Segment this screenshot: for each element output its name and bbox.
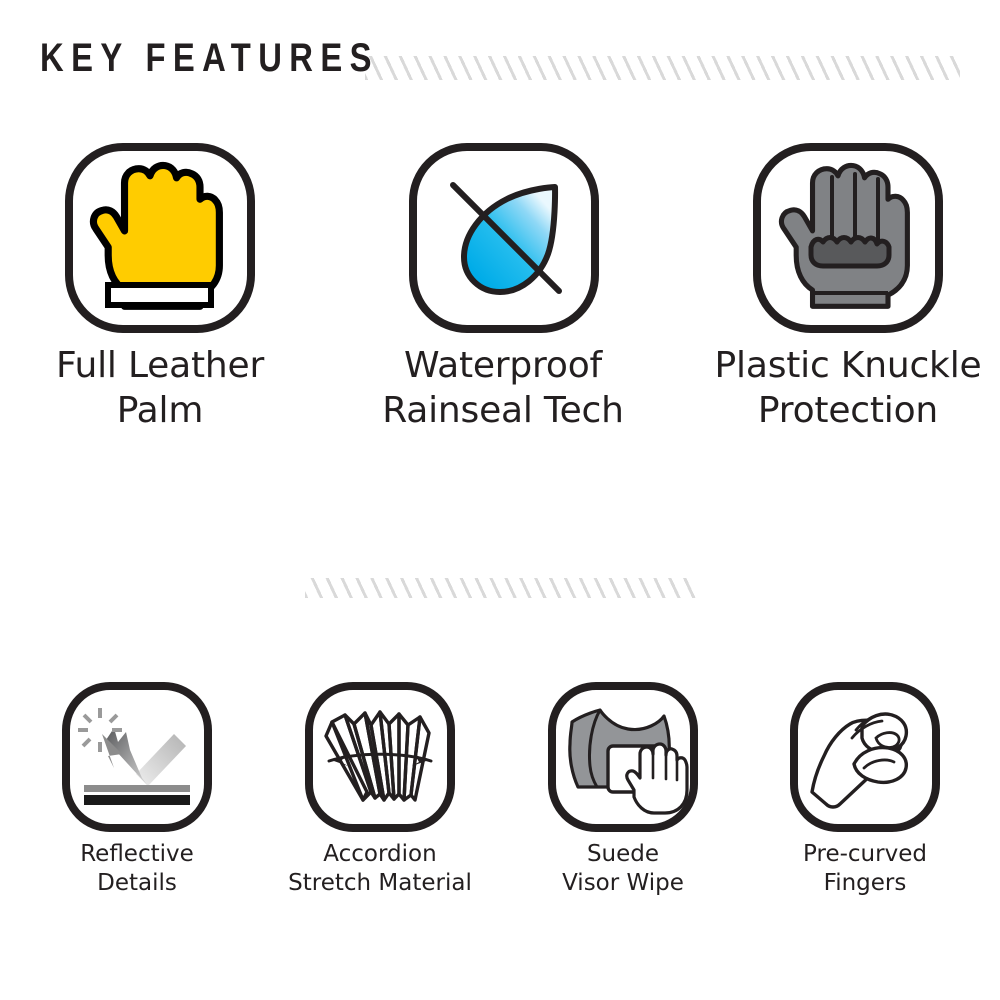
feature-label: Suede Visor Wipe [508,840,738,899]
feature-label: Waterproof Rainseal Tech [343,343,663,434]
feature-label: Full Leather Palm [0,343,320,434]
yellow-glove-icon [65,143,255,333]
gray-glove-knuckle-icon [753,143,943,333]
feature-label: Plastic Knuckle Protection [688,343,1000,434]
water-droplet-crossed-icon [409,143,599,333]
page-title: KEY FEATURES [40,38,379,78]
reflective-beam-icon [62,682,212,832]
suede-wipe-hand-icon [548,682,698,832]
secondary-features-row: Reflective Details [0,660,1000,960]
accordion-bellows-icon [305,682,455,832]
curved-hand-icon [790,682,940,832]
page-header: KEY FEATURES [0,0,1000,110]
feature-label: Reflective Details [22,840,252,899]
header-hatch-divider [365,56,960,80]
section-hatch-divider [305,578,697,598]
feature-label: Pre-curved Fingers [750,840,980,899]
feature-label: Accordion Stretch Material [265,840,495,899]
primary-features-row: Full Leather Palm Waterproof Rainseal Te… [0,130,1000,510]
